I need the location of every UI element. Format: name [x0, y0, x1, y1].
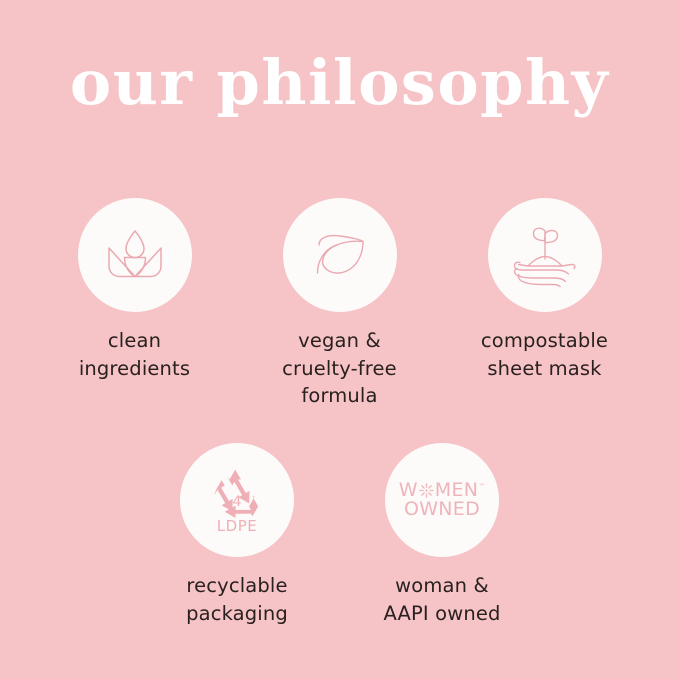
badge-clean-ingredients: clean ingredients	[32, 198, 237, 410]
badge-circle: 4 LDPE	[180, 443, 294, 557]
recyclable-packaging-icon: 4 LDPE	[198, 461, 276, 539]
badge-caption: clean ingredients	[79, 327, 190, 382]
women-owned-line1: W	[399, 479, 486, 501]
women-owned-w: W	[399, 479, 418, 501]
badge-circle	[283, 198, 397, 312]
badge-row-bottom: 4 LDPE recyclable packaging W	[0, 443, 679, 627]
badge-caption: recyclable packaging	[186, 572, 288, 627]
women-owned-men: MEN	[435, 479, 479, 501]
compostable-sheet-mask-icon	[508, 218, 582, 292]
badge-vegan-cruelty-free: vegan & cruelty-free formula	[237, 198, 442, 410]
recycle-number: 4	[233, 494, 242, 510]
badge-circle	[78, 198, 192, 312]
philosophy-panel: our philosophy cle	[0, 0, 679, 679]
clean-ingredients-icon	[99, 219, 171, 291]
badge-circle: W	[385, 443, 499, 557]
badge-circle	[488, 198, 602, 312]
resin-code-label: LDPE	[217, 517, 257, 535]
badge-compostable-sheet-mask: compostable sheet mask	[442, 198, 647, 410]
badge-caption: woman & AAPI owned	[383, 572, 500, 627]
badge-woman-aapi-owned: W	[340, 443, 545, 627]
vegan-cruelty-free-icon	[304, 219, 376, 291]
women-owned-line2: OWNED	[404, 498, 480, 520]
page-title: our philosophy	[0, 52, 679, 114]
badge-row-top: clean ingredients vegan & cruelty-free f…	[0, 198, 679, 410]
badge-caption: vegan & cruelty-free formula	[282, 327, 397, 410]
badge-caption: compostable sheet mask	[481, 327, 608, 382]
starburst-icon	[418, 482, 435, 499]
women-owned-badge-icon: W	[385, 481, 499, 519]
badge-recyclable-packaging: 4 LDPE recyclable packaging	[135, 443, 340, 627]
trademark-mark: ™	[478, 483, 485, 491]
